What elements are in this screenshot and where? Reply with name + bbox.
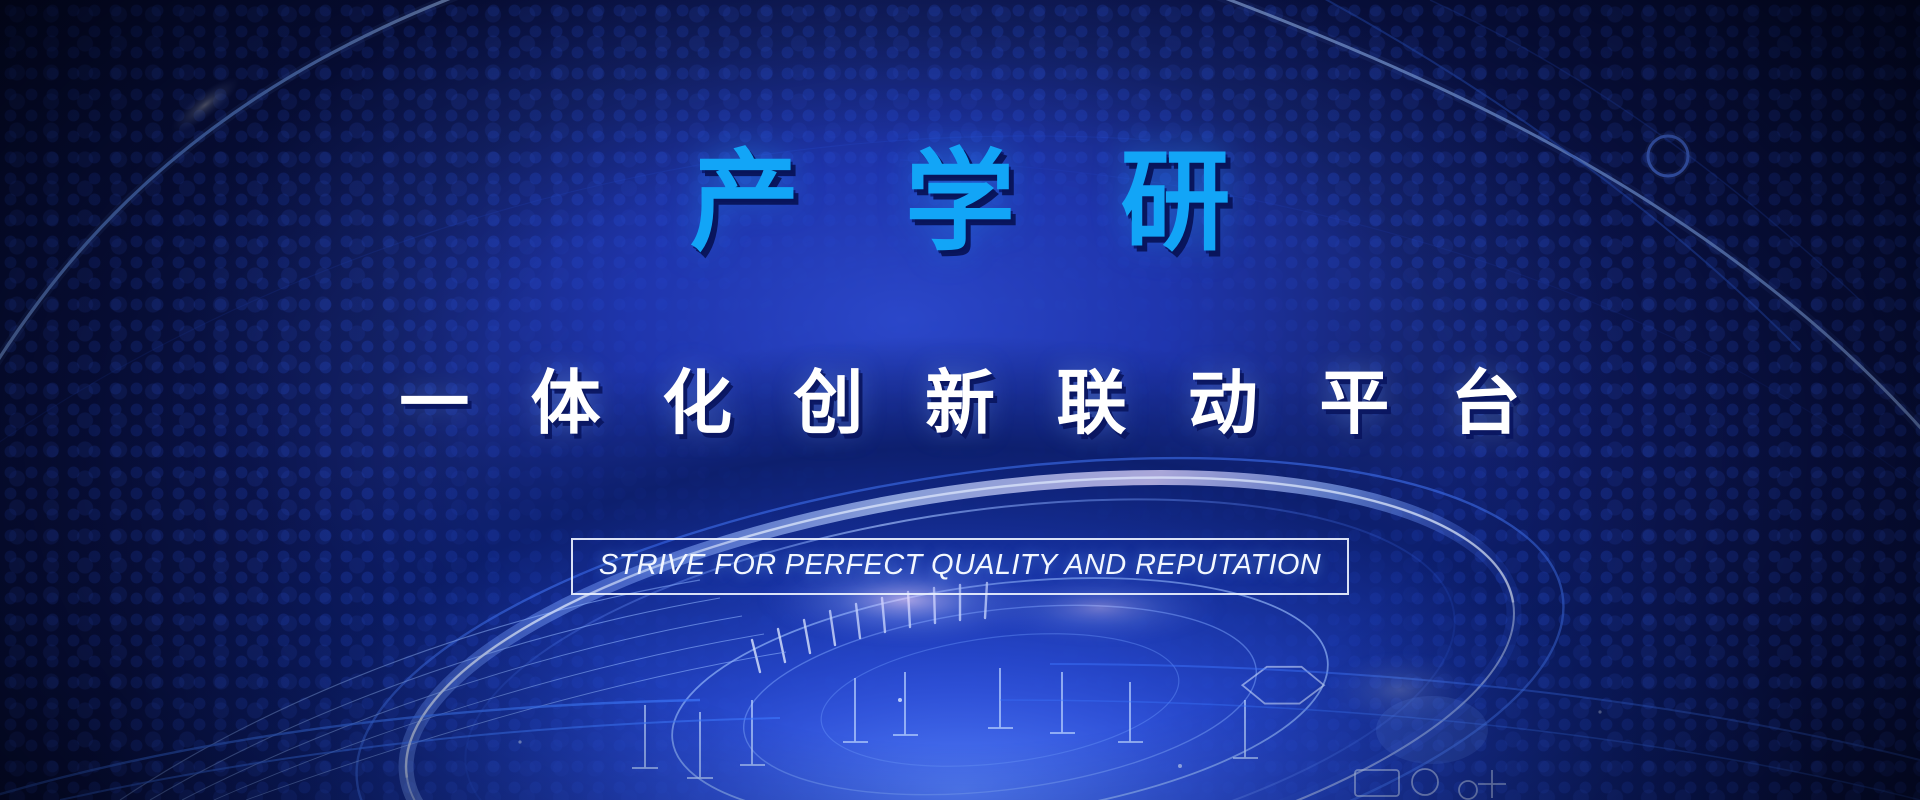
banner-content: 产 学 研 一 体 化 创 新 联 动 平 台 STRIVE FOR PERFE… bbox=[0, 0, 1920, 800]
page-subtitle: 一 体 化 创 新 联 动 平 台 bbox=[378, 368, 1542, 438]
hero-banner: 产 学 研 一 体 化 创 新 联 动 平 台 STRIVE FOR PERFE… bbox=[0, 0, 1920, 800]
tagline-box: STRIVE FOR PERFECT QUALITY AND REPUTATIO… bbox=[571, 538, 1349, 595]
tagline-text: STRIVE FOR PERFECT QUALITY AND REPUTATIO… bbox=[599, 549, 1321, 582]
page-title: 产 学 研 bbox=[652, 148, 1268, 258]
